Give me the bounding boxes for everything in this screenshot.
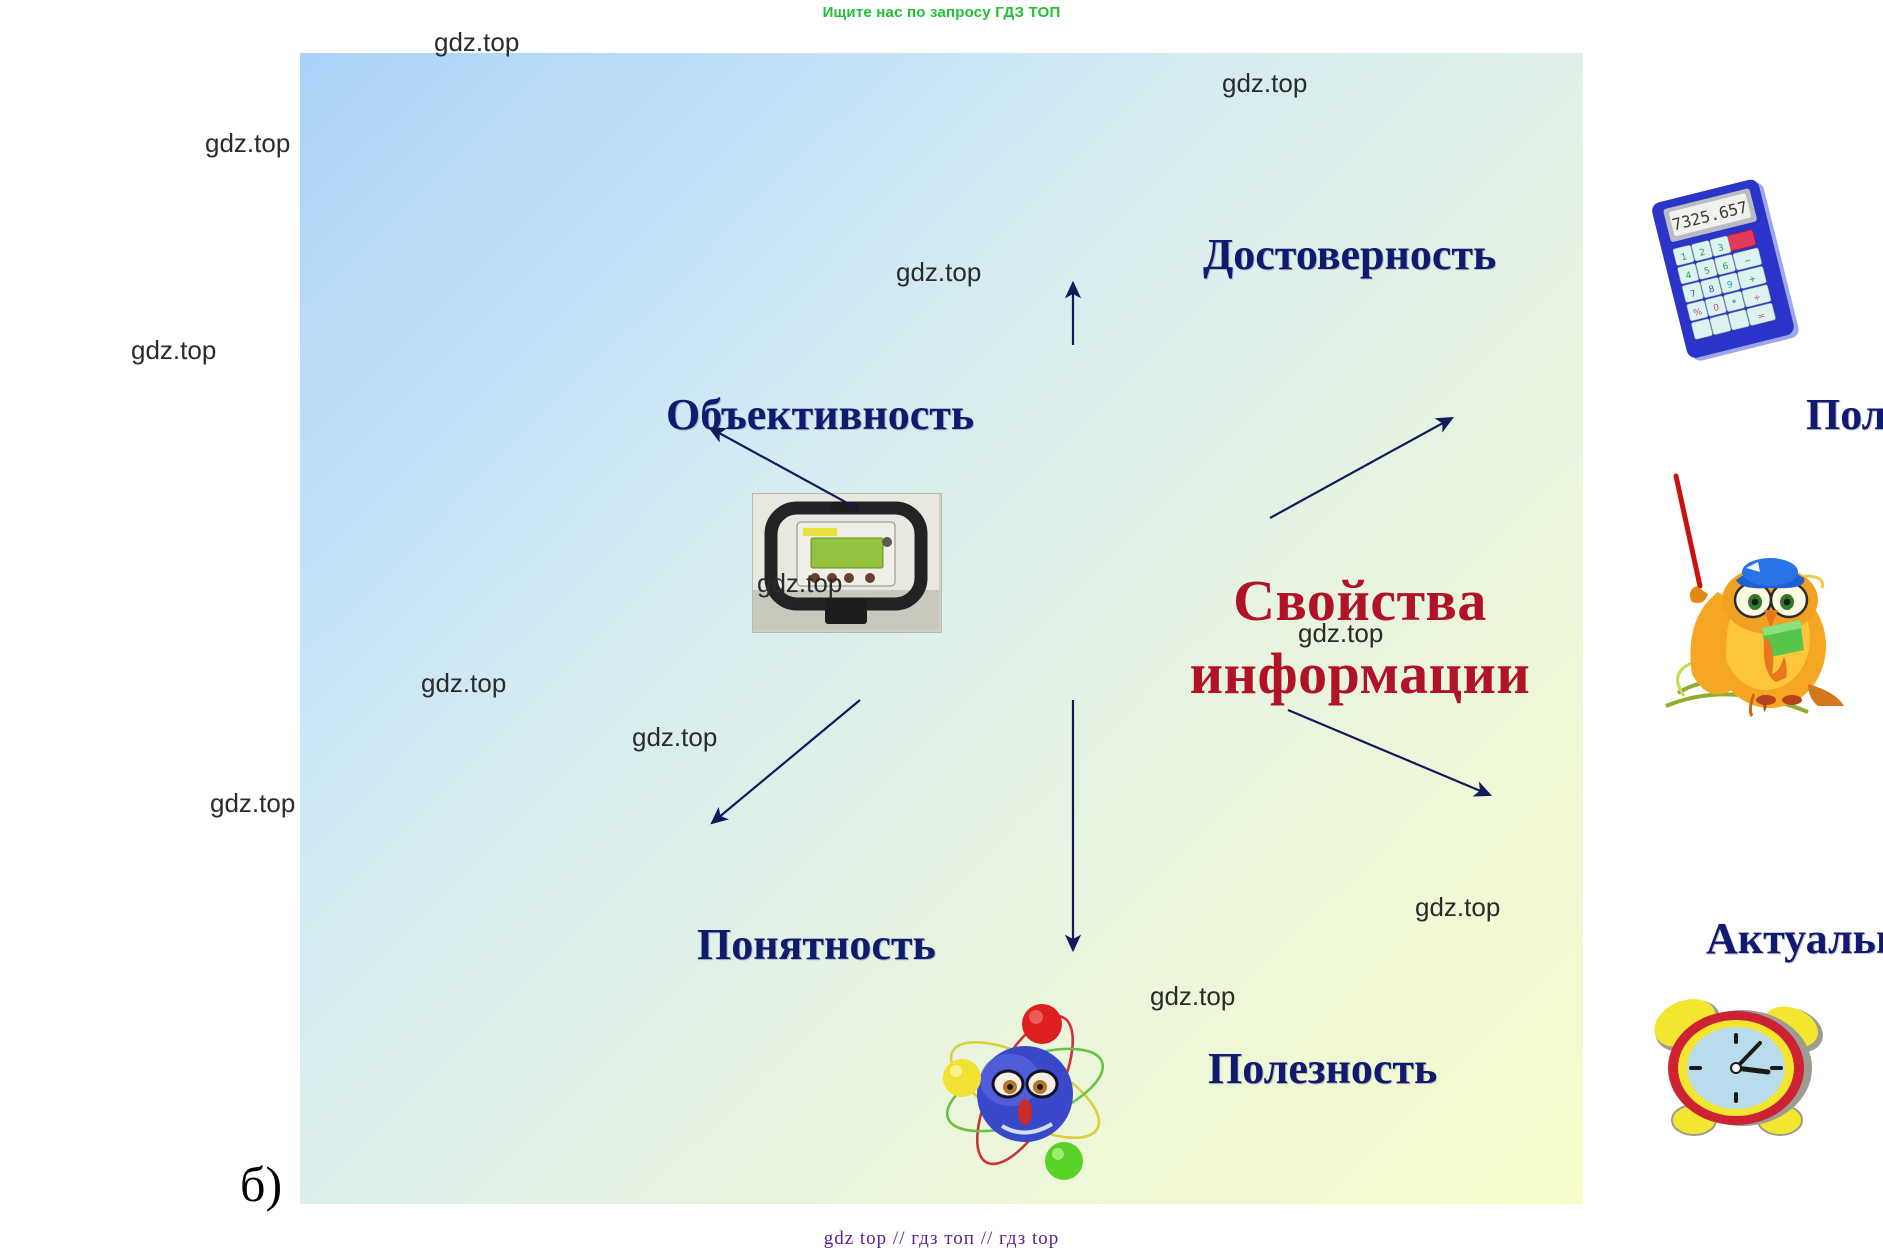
watermark: gdz.top [757, 568, 842, 599]
footer-text: gdz top // гдз топ // гдз top [824, 1228, 1060, 1249]
calculator-icon: 7325.657 [1638, 173, 1823, 363]
watermark: gdz.top [210, 788, 295, 819]
promo-text: Ищите нас по запросу ГДЗ ТОП [823, 4, 1061, 21]
slide-canvas: Свойства информации Достоверность Объект… [300, 53, 1583, 1204]
watermark: gdz.top [205, 128, 290, 159]
watermark: gdz.top [131, 335, 216, 366]
node-label-ponyatnost: Понятность [697, 919, 936, 970]
watermark: gdz.top [434, 27, 519, 58]
node-label-obektivnost: Объективность [666, 389, 974, 440]
watermark: gdz.top [1298, 618, 1383, 649]
alarm-clock-illustration [1650, 988, 1830, 1153]
calculator-illustration: 7325.657 [1638, 173, 1823, 363]
atom-icon [930, 998, 1120, 1183]
measuring-device-photo [752, 493, 942, 633]
watermark: gdz.top [421, 668, 506, 699]
owl-icon [1658, 468, 1868, 733]
watermark: gdz.top [1150, 981, 1235, 1012]
node-label-dostovernost: Достоверность [1203, 229, 1496, 280]
watermark: gdz.top [1222, 68, 1307, 99]
node-label-poleznost: Полезность [1208, 1043, 1437, 1094]
owl-illustration [1658, 468, 1868, 733]
watermark: gdz.top [632, 722, 717, 753]
node-label-aktualnost: Актуальность [1706, 913, 1883, 964]
watermark: gdz.top [1415, 892, 1500, 923]
promo-bar: Ищите нас по запросу ГДЗ ТОП [0, 0, 1883, 26]
footer-bar: gdz top // гдз топ // гдз top [0, 1228, 1883, 1250]
atom-illustration [930, 998, 1120, 1183]
watermark: gdz.top [896, 257, 981, 288]
figure-caption: б) [240, 1155, 282, 1213]
alarm-clock-icon [1650, 988, 1830, 1153]
node-label-polnota: Полнота [1806, 389, 1883, 440]
measuring-device-icon [753, 494, 939, 630]
